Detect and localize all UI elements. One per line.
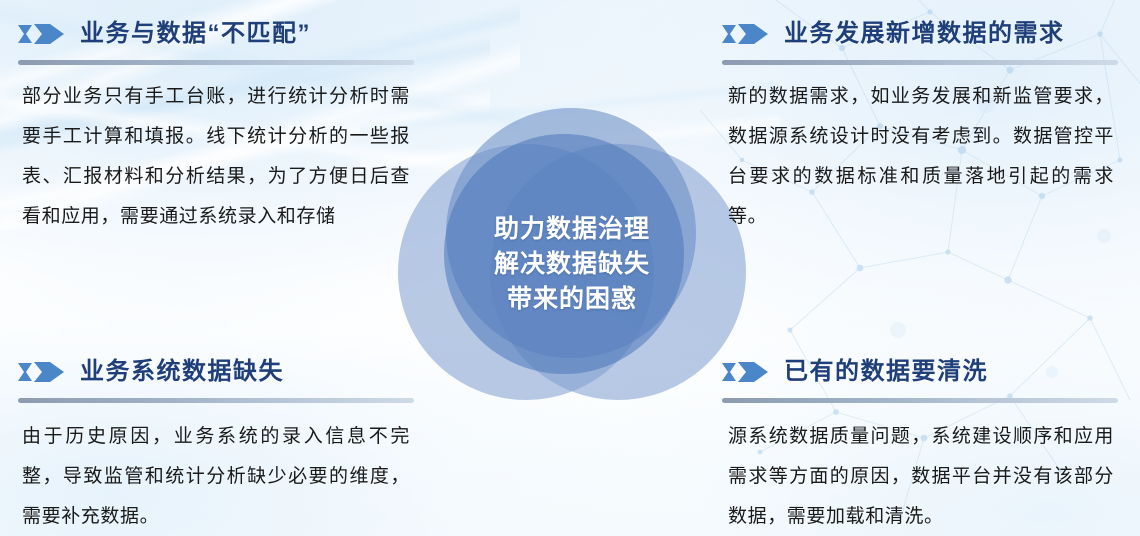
panel-bottom-left-body: 由于历史原因，业务系统的录入信息不完整，导致监管和统计分析缺少必要的维度，需要补… xyxy=(18,417,410,536)
panel-top-left-header: 业务与数据“不匹配” xyxy=(18,14,418,54)
panel-bottom-right-body: 源系统数据质量问题，系统建设顺序和应用需求等方面的原因，数据平台并没有该部分数据… xyxy=(722,417,1114,536)
panel-top-right-body: 新的数据需求，如业务发展和新监管要求，数据源系统设计时没有考虑到。数据管控平台要… xyxy=(722,77,1114,237)
panel-top-right-divider xyxy=(722,60,1118,65)
panel-bottom-right-header: 已有的数据要清洗 xyxy=(722,352,1122,392)
panel-bottom-right: 已有的数据要清洗 源系统数据质量问题，系统建设顺序和应用需求等方面的原因，数据平… xyxy=(722,352,1122,536)
arrow-right-icon xyxy=(18,357,66,387)
arrow-right-icon xyxy=(722,19,770,49)
arrow-right-icon xyxy=(18,19,66,49)
center-slogan: 助力数据治理 解决数据缺失 带来的困惑 xyxy=(398,212,746,317)
panel-top-left: 业务与数据“不匹配” 部分业务只有手工台账，进行统计分析时需要手工计算和填报。线… xyxy=(18,14,418,237)
panel-top-right-title: 业务发展新增数据的需求 xyxy=(784,22,1065,46)
center-slogan-line-2: 解决数据缺失 xyxy=(398,247,746,282)
panel-top-left-divider xyxy=(18,60,414,65)
panel-bottom-right-divider xyxy=(722,398,1118,403)
panel-top-right: 业务发展新增数据的需求 新的数据需求，如业务发展和新监管要求，数据源系统设计时没… xyxy=(722,14,1122,237)
slide-canvas: 助力数据治理 解决数据缺失 带来的困惑 业务与数据“不匹配” 部分业务只有手工台… xyxy=(0,0,1140,536)
panel-top-right-header: 业务发展新增数据的需求 xyxy=(722,14,1122,54)
center-slogan-line-1: 助力数据治理 xyxy=(398,212,746,247)
panel-top-left-body: 部分业务只有手工台账，进行统计分析时需要手工计算和填报。线下统计分析的一些报表、… xyxy=(18,77,410,237)
panel-bottom-left-title: 业务系统数据缺失 xyxy=(80,360,284,384)
center-slogan-line-3: 带来的困惑 xyxy=(398,282,746,317)
panel-top-left-title: 业务与数据“不匹配” xyxy=(80,22,311,46)
panel-bottom-right-title: 已有的数据要清洗 xyxy=(784,360,988,384)
panel-bottom-left-divider xyxy=(18,398,414,403)
panel-bottom-left-header: 业务系统数据缺失 xyxy=(18,352,418,392)
center-venn-graphic: 助力数据治理 解决数据缺失 带来的困惑 xyxy=(398,108,746,402)
panel-bottom-left: 业务系统数据缺失 由于历史原因，业务系统的录入信息不完整，导致监管和统计分析缺少… xyxy=(18,352,418,536)
arrow-right-icon xyxy=(722,357,770,387)
